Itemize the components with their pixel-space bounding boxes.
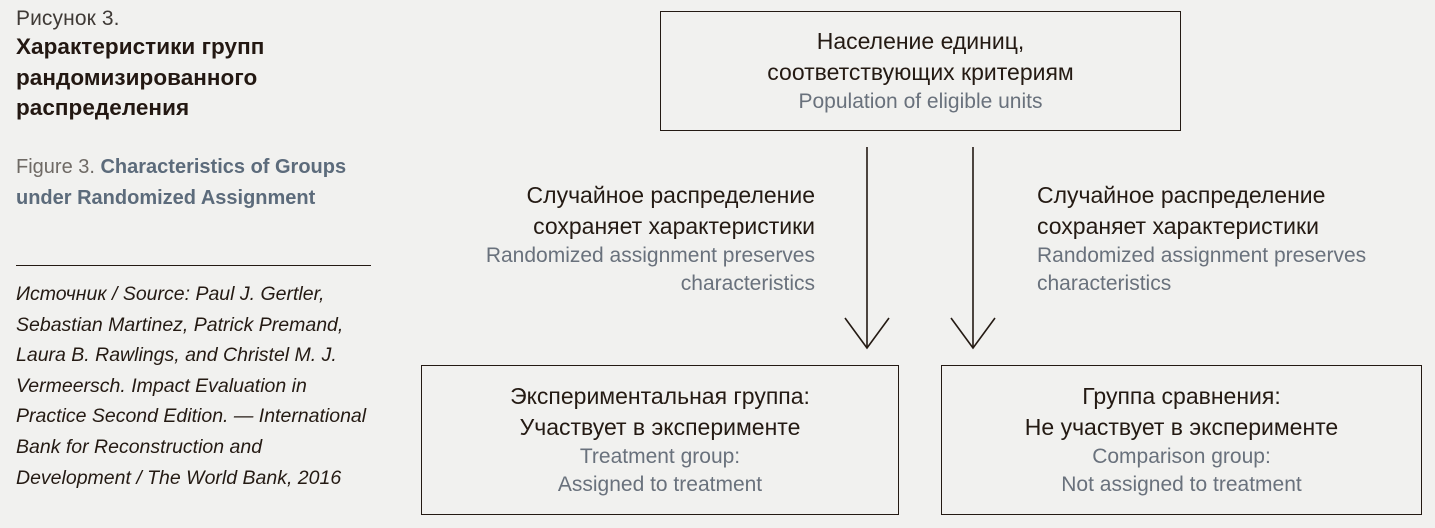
population-box-label-en: Population of eligible units (798, 88, 1042, 116)
figure-page: Рисунок 3. Характеристики групп рандомиз… (0, 0, 1435, 528)
flowchart: Население единиц, соответствующих критер… (0, 0, 1435, 528)
branch-label-right: Случайное распределение сохраняет характ… (1037, 180, 1435, 298)
comparison-group-box: Группа сравнения: Не участвует в экспери… (941, 365, 1422, 515)
treatment-box-label-en: Treatment group: Assigned to treatment (558, 443, 762, 499)
population-box-label-ru: Население единиц, соответствующих критер… (767, 26, 1073, 88)
arrow-to-treatment (845, 147, 889, 348)
branch-right-label-ru: Случайное распределение сохраняет характ… (1037, 180, 1435, 242)
comparison-box-label-en: Comparison group: Not assigned to treatm… (1061, 443, 1301, 499)
branch-right-label-en: Randomized assignment preserves characte… (1037, 242, 1435, 298)
arrow-to-comparison (951, 147, 995, 348)
branch-left-label-en: Randomized assignment preserves characte… (415, 242, 815, 298)
branch-label-left: Случайное распределение сохраняет характ… (415, 180, 815, 298)
treatment-group-box: Экспериментальная группа: Участвует в эк… (421, 365, 899, 515)
branch-left-label-ru: Случайное распределение сохраняет характ… (415, 180, 815, 242)
comparison-box-label-ru: Группа сравнения: Не участвует в экспери… (1025, 381, 1338, 443)
population-box: Население единиц, соответствующих критер… (660, 11, 1181, 131)
treatment-box-label-ru: Экспериментальная группа: Участвует в эк… (510, 381, 810, 443)
